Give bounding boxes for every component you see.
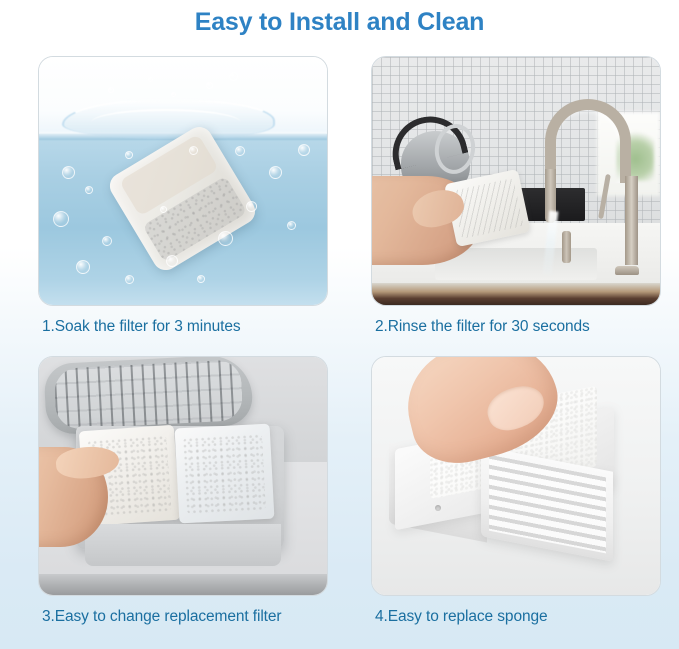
splash-crown-inner	[91, 109, 241, 136]
step-3-caption: 3.Easy to change replacement filter	[38, 596, 328, 626]
step-2-caption: 2.Rinse the filter for 30 seconds	[371, 306, 661, 336]
step-3-image	[38, 356, 328, 596]
faucet-spout	[545, 99, 631, 183]
page-title: Easy to Install and Clean	[0, 0, 679, 37]
soap-dispenser	[562, 231, 571, 263]
bubble	[229, 72, 238, 81]
vented-lid	[43, 356, 254, 436]
bubble	[206, 82, 213, 89]
bubble	[102, 236, 112, 246]
tray-base	[85, 524, 281, 567]
filter-in-water-illustration	[39, 57, 327, 305]
step-2-image	[371, 56, 661, 306]
bubble	[85, 186, 93, 194]
holder-pin-hole	[435, 505, 441, 511]
bubble	[218, 231, 233, 246]
counter-edge	[372, 283, 660, 305]
bubble	[160, 206, 167, 213]
faucet-base	[615, 266, 639, 275]
holder-vent-slots	[489, 455, 606, 554]
step-4-image	[371, 356, 661, 596]
replace-sponge-illustration	[372, 357, 660, 595]
faucet-rinse-illustration	[372, 57, 660, 305]
steps-grid: 1.Soak the filter for 3 minutes	[0, 56, 679, 646]
replace-filter-illustration	[39, 357, 327, 595]
filter-cartridge-right	[175, 424, 275, 524]
bubble	[298, 144, 310, 156]
step-1-caption: 1.Soak the filter for 3 minutes	[38, 306, 328, 336]
lid-vent-grid	[54, 360, 244, 431]
bubble	[108, 87, 114, 93]
appliance-base	[39, 574, 327, 595]
step-4-caption: 4.Easy to replace sponge	[371, 596, 661, 626]
faucet-body	[625, 176, 638, 265]
bubble	[287, 221, 296, 230]
step-1-image	[38, 56, 328, 306]
bubble	[189, 146, 198, 155]
